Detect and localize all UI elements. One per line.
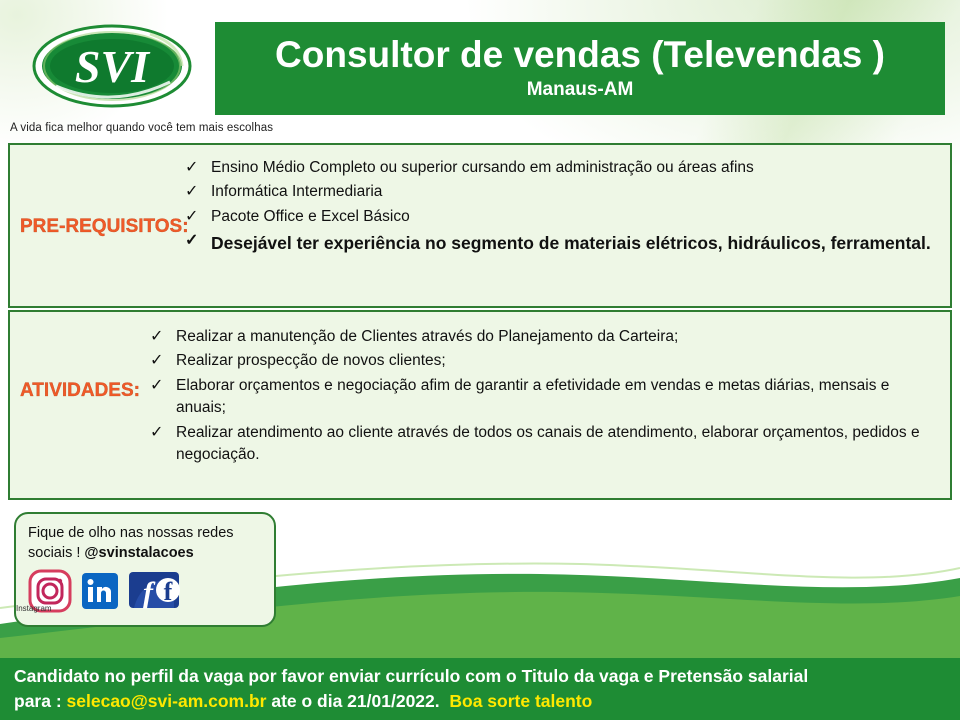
social-icons: f f	[28, 569, 264, 613]
contact-email[interactable]: selecao@svi-am.com.br	[67, 691, 267, 711]
header-title-bar: Consultor de vendas (Televendas ) Manaus…	[215, 22, 945, 115]
facebook-icon[interactable]: f f	[128, 569, 186, 611]
footer-closing: Boa sorte talento	[449, 691, 592, 711]
check-icon: ✓	[185, 180, 198, 203]
social-handle: @svinstalacoes	[84, 545, 193, 561]
check-icon: ✓	[150, 325, 163, 348]
check-icon: ✓	[150, 374, 163, 397]
footer-line-1: Candidato no perfil da vaga por favor en…	[14, 666, 808, 687]
social-line-2-prefix: sociais !	[28, 545, 84, 561]
list-item: ✓Realizar a manutenção de Clientes atrav…	[150, 326, 940, 348]
list-item: ✓Realizar atendimento ao cliente através…	[150, 422, 940, 467]
prerequisites-list: ✓Ensino Médio Completo ou superior cursa…	[185, 157, 945, 259]
list-item: ✓ Pacote Office e Excel Básico	[185, 206, 945, 228]
list-item: ✓Realizar prospecção de novos clientes;	[150, 350, 940, 372]
check-icon: ✓	[185, 229, 198, 253]
svi-logo: SVI	[30, 22, 195, 108]
check-icon: ✓	[185, 156, 198, 179]
list-item: ✓Ensino Médio Completo ou superior cursa…	[185, 157, 945, 179]
instagram-caption: Instagram	[16, 604, 52, 613]
brand-tagline: A vida fica melhor quando você tem mais …	[10, 122, 273, 134]
footer-line-2-prefix: para :	[14, 691, 67, 711]
poster-page: SVI A vida fica melhor quando você tem m…	[0, 0, 960, 720]
svg-text:f: f	[164, 577, 173, 606]
section-prerequisites: PRE-REQUISITOS: ✓Ensino Médio Completo o…	[8, 143, 952, 308]
list-item: ✓Informática Intermediaria	[185, 181, 945, 203]
section-activities: ATIVIDADES: ✓Realizar a manutenção de Cl…	[8, 310, 952, 500]
check-icon: ✓	[185, 205, 198, 228]
footer-line-2: para : selecao@svi-am.com.br ate o dia 2…	[14, 691, 592, 712]
list-item: ✓Desejável ter experiência no segmento d…	[185, 230, 945, 256]
linkedin-icon[interactable]	[82, 573, 118, 609]
footer-deadline: ate o dia 21/01/2022.	[266, 691, 439, 711]
svg-text:SVI: SVI	[75, 41, 151, 92]
section-label-prerequisites: PRE-REQUISITOS:	[20, 216, 189, 238]
social-line-1: Fique de olho nas nossas redes	[28, 525, 234, 541]
list-item: ✓Elaborar orçamentos e negociação afim d…	[150, 375, 940, 420]
check-icon: ✓	[150, 421, 163, 444]
section-label-activities: ATIVIDADES:	[20, 380, 140, 402]
page-subtitle: Manaus-AM	[527, 79, 634, 101]
social-box: Fique de olho nas nossas redes sociais !…	[14, 512, 276, 627]
check-icon: ✓	[150, 349, 163, 372]
social-text: Fique de olho nas nossas redes sociais !…	[28, 524, 264, 563]
activities-list: ✓Realizar a manutenção de Clientes atrav…	[150, 326, 940, 469]
page-title: Consultor de vendas (Televendas )	[275, 36, 885, 75]
